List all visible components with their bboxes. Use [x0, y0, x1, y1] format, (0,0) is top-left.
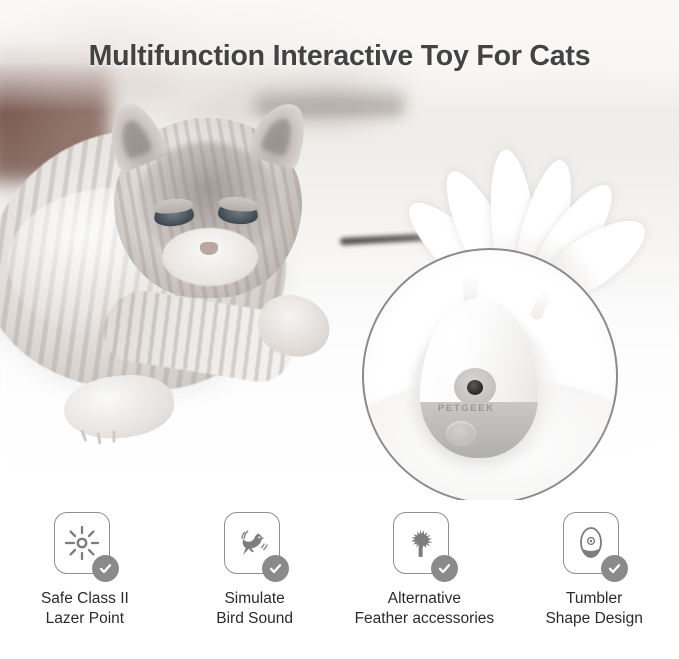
product-closeup-circle: PETGEEK — [362, 248, 618, 500]
feature-label-line2: Lazer Point — [41, 609, 129, 629]
feature-row: Safe Class II Lazer Point — [0, 512, 679, 659]
product-power-button[interactable] — [446, 421, 476, 446]
feature-label-line1: Tumbler — [545, 589, 642, 609]
product-body: PETGEEK — [420, 298, 538, 458]
page-title: Multifunction Interactive Toy For Cats — [0, 40, 679, 73]
check-badge-icon — [262, 555, 289, 582]
product-infographic: PETGEEK Multifunction Interactive Toy Fo… — [0, 0, 679, 659]
icon-wrapper — [224, 512, 286, 578]
product-feather-stem-secondary — [529, 291, 551, 321]
feature-label: Simulate Bird Sound — [216, 589, 293, 629]
check-badge-icon — [431, 555, 458, 582]
cat-nose — [200, 242, 218, 255]
feature-label: Safe Class II Lazer Point — [41, 589, 129, 629]
feature-item-feather[interactable]: Alternative Feather accessories — [340, 512, 510, 659]
feature-label: Tumbler Shape Design — [545, 589, 642, 629]
check-badge-icon — [601, 555, 628, 582]
cat-photo — [0, 96, 406, 426]
feature-item-tumbler[interactable]: Tumbler Shape Design — [509, 512, 679, 659]
feature-label-line1: Safe Class II — [41, 589, 129, 609]
icon-wrapper — [563, 512, 625, 578]
feature-label-line1: Alternative — [355, 589, 495, 609]
feature-item-laser[interactable]: Safe Class II Lazer Point — [0, 512, 170, 659]
check-badge-icon — [92, 555, 119, 582]
icon-wrapper — [54, 512, 116, 578]
icon-wrapper — [393, 512, 455, 578]
feature-label-line2: Feather accessories — [355, 609, 495, 629]
laser-lens — [467, 380, 483, 395]
product-brand-label: PETGEEK — [438, 403, 495, 414]
feature-label-line2: Bird Sound — [216, 609, 293, 629]
feature-label-line2: Shape Design — [545, 609, 642, 629]
feature-item-bird-sound[interactable]: Simulate Bird Sound — [170, 512, 340, 659]
cat-claw — [112, 431, 115, 443]
cat-muzzle — [162, 228, 258, 286]
laser-lens-ring — [454, 368, 496, 406]
feature-label-line1: Simulate — [216, 589, 293, 609]
feature-label: Alternative Feather accessories — [355, 589, 495, 629]
hero-section: PETGEEK — [0, 0, 679, 500]
